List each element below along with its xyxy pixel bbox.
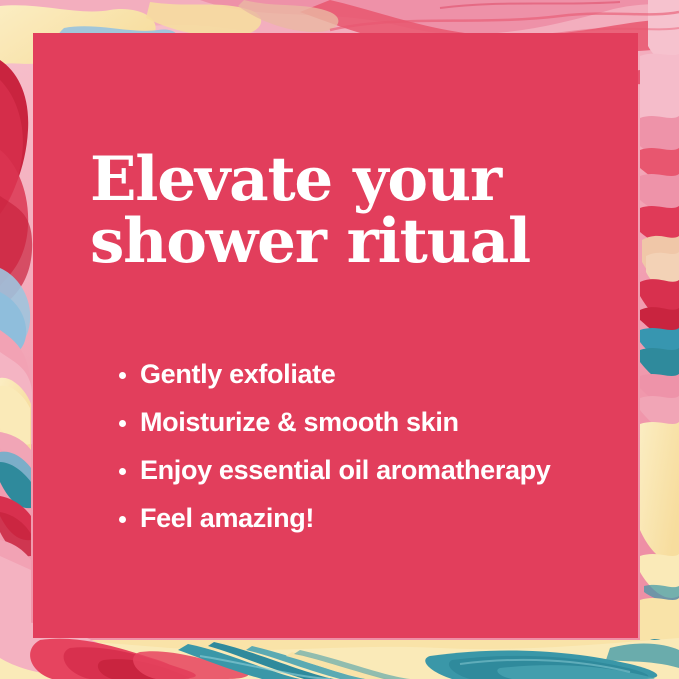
benefit-label: Feel amazing! [140, 505, 314, 532]
bullet-dot-icon [119, 468, 126, 475]
bullet-dot-icon [119, 372, 126, 379]
benefits-list: Gently exfoliate Moisturize & smooth ski… [119, 361, 649, 553]
headline-line-1: Elevate your [90, 150, 620, 210]
benefit-label: Enjoy essential oil aromatherapy [140, 457, 550, 484]
content-card: Elevate your shower ritual Gently exfoli… [33, 33, 638, 638]
benefit-label: Moisturize & smooth skin [140, 409, 459, 436]
headline-line-2: shower ritual [90, 212, 620, 272]
bullet-dot-icon [119, 420, 126, 427]
list-item: Feel amazing! [119, 505, 649, 553]
list-item: Gently exfoliate [119, 361, 649, 409]
page-title: Elevate your shower ritual [90, 150, 620, 273]
bullet-dot-icon [119, 516, 126, 523]
benefit-label: Gently exfoliate [140, 361, 335, 388]
promotional-banner: Elevate your shower ritual Gently exfoli… [0, 0, 679, 679]
list-item: Moisturize & smooth skin [119, 409, 649, 457]
list-item: Enjoy essential oil aromatherapy [119, 457, 649, 505]
